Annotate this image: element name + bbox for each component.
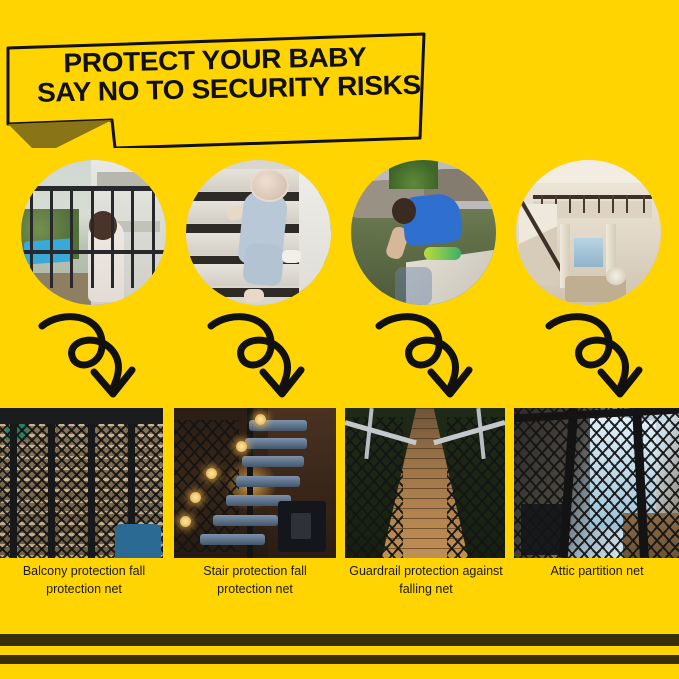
product-caption: Balcony protection fall protection net [4,562,164,598]
banner-fold [8,120,112,148]
bottom-stripe-lower [0,655,679,664]
product-photo-stair-net [174,408,336,558]
product-photo-balcony-net [0,408,163,558]
headline-text: PROTECT YOUR BABY SAY NO TO SECURITY RIS… [17,42,418,109]
risk-photo-balcony [21,160,166,305]
risk-photo-water [351,160,496,305]
curly-down-arrow-icon [545,312,665,404]
arrow-row [0,312,679,404]
product-photo-row [0,408,679,558]
risk-photo-interior [516,160,661,305]
curly-down-arrow-icon [375,312,495,404]
bottom-stripe-upper [0,634,679,646]
curly-down-arrow-icon [38,312,158,404]
product-caption: Guardrail protection against falling net [345,562,507,598]
product-caption: Stair protection fall protection net [175,562,335,598]
water-risk-scene [351,160,496,305]
product-caption: Attic partition net [515,562,679,580]
stairs-risk-scene [186,160,331,305]
risk-photo-stairs [186,160,331,305]
balcony-risk-scene [21,160,166,305]
risk-photo-row [0,160,679,308]
infographic-page: PROTECT YOUR BABY SAY NO TO SECURITY RIS… [0,0,679,679]
product-photo-guardrail-net [345,408,505,558]
curly-down-arrow-icon [207,312,327,404]
product-photo-attic-net [514,408,679,558]
interior-risk-scene [516,160,661,305]
headline-banner: PROTECT YOUR BABY SAY NO TO SECURITY RIS… [0,28,440,148]
product-caption-row: Balcony protection fall protection net S… [0,562,679,608]
